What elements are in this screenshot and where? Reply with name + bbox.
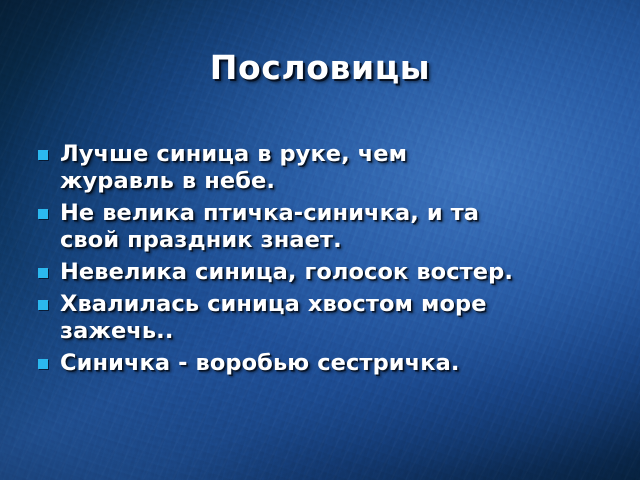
- list-item-text: Хвалилась синица хвостом море зажечь..: [60, 291, 620, 345]
- slide-title: Пословицы: [0, 48, 640, 87]
- list-item-text: Не велика птичка-синичка, и та свой праз…: [60, 200, 620, 254]
- square-bullet-icon: [38, 268, 48, 278]
- list-item: Хвалилась синица хвостом море зажечь..: [30, 291, 620, 345]
- list-item: Не велика птичка-синичка, и та свой праз…: [30, 200, 620, 254]
- list-item-text: Лучше синица в руке, чем журавль в небе.: [60, 141, 620, 195]
- presentation-slide: Пословицы Лучше синица в руке, чем журав…: [0, 0, 640, 480]
- slide-content: Пословицы Лучше синица в руке, чем журав…: [0, 0, 640, 480]
- list-item: Синичка - воробью сестричка.: [30, 350, 620, 377]
- list-item: Лучше синица в руке, чем журавль в небе.: [30, 141, 620, 195]
- proverb-list: Лучше синица в руке, чем журавль в небе.…: [30, 141, 620, 382]
- list-item-text: Невелика синица, голосок востер.: [60, 259, 620, 286]
- square-bullet-icon: [38, 359, 48, 369]
- square-bullet-icon: [38, 300, 48, 310]
- list-item: Невелика синица, голосок востер.: [30, 259, 620, 286]
- square-bullet-icon: [38, 150, 48, 160]
- square-bullet-icon: [38, 209, 48, 219]
- list-item-text: Синичка - воробью сестричка.: [60, 350, 620, 377]
